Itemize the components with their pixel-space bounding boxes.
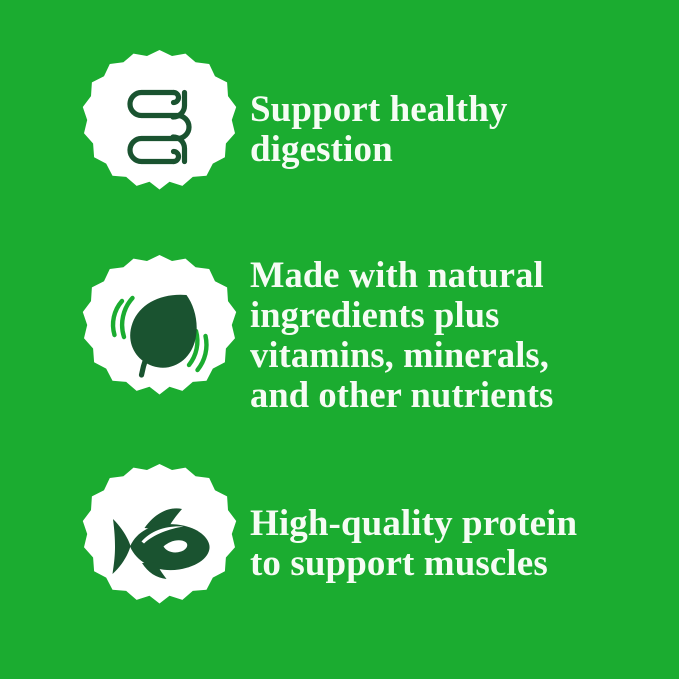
- benefit-text-ingredients: Made with natural ingredients plus vitam…: [250, 255, 553, 415]
- scalloped-badge-shape: [83, 50, 236, 190]
- badge-ingredients: [78, 253, 241, 416]
- benefit-text-digestion: Support healthy digestion: [250, 90, 507, 170]
- badge-digestion: [78, 48, 241, 211]
- benefit-item-ingredients: Made with natural ingredients plus vitam…: [78, 253, 553, 416]
- benefits-panel: Support healthy digestion Made: [0, 0, 679, 679]
- benefit-item-protein: High-quality protein to support muscles: [78, 462, 577, 625]
- badge-protein: [78, 462, 241, 625]
- benefit-item-digestion: Support healthy digestion: [78, 48, 507, 211]
- benefit-text-protein: High-quality protein to support muscles: [250, 504, 577, 584]
